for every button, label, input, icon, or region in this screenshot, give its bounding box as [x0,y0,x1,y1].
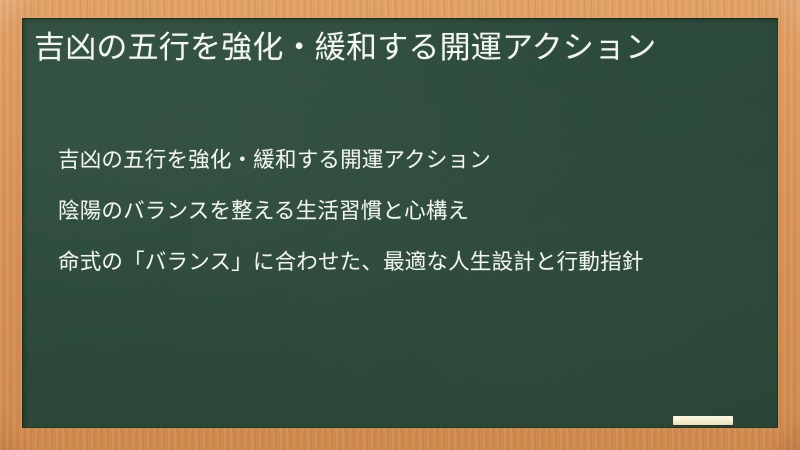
outline-list: 吉凶の五行を強化・緩和する開運アクション 陰陽のバランスを整える生活習慣と心構え… [34,146,758,278]
list-item: 命式の「バランス」に合わせた、最適な人生設計と行動指針 [34,248,758,278]
list-item: 陰陽のバランスを整える生活習慣と心構え [34,197,758,227]
wooden-frame: 吉凶の五行を強化・緩和する開運アクション 吉凶の五行を強化・緩和する開運アクショ… [0,0,800,450]
chalk-stick-icon [673,416,733,425]
page-title: 吉凶の五行を強化・緩和する開運アクション [34,26,750,71]
list-item: 吉凶の五行を強化・緩和する開運アクション [34,146,758,176]
chalkboard-surface: 吉凶の五行を強化・緩和する開運アクション 吉凶の五行を強化・緩和する開運アクショ… [22,18,778,428]
